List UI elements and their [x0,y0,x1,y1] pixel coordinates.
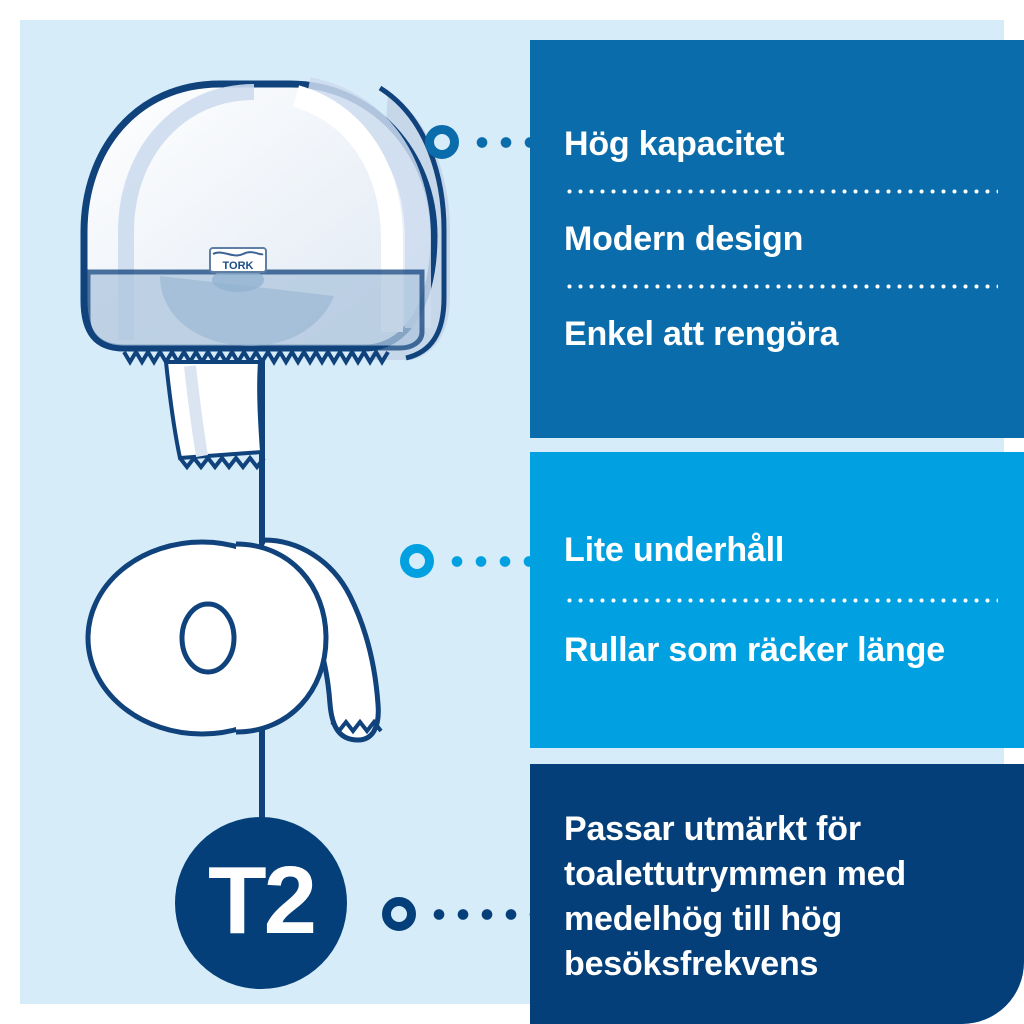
dotted-separator [564,284,998,289]
dispenser-group: TORK [84,84,450,467]
svg-text:TORK: TORK [223,260,254,272]
connector-ring-icon [400,544,434,578]
feature-panel-secondary: Lite underhåll Rullar som räcker länge [530,452,1024,748]
paper-sheet-torn-edge [180,458,264,467]
toilet-roll-group [88,540,381,740]
tork-logo-icon: TORK [210,248,266,272]
capacity-system-badge: T2 [175,817,347,989]
feature-panel-primary: Hög kapacitet Modern design Enkel att re… [530,40,1024,438]
connector-ring-icon [382,897,416,931]
badge-label: T2 [208,853,314,949]
dotted-separator [564,598,998,603]
roll-core-hole [182,604,234,672]
feature-text-modern-design: Modern design [564,220,990,258]
infographic-stage: TORK [0,0,1024,1024]
hanging-paper-sheet [166,362,262,458]
feature-text-enkel-att-rengora: Enkel att rengöra [564,315,990,353]
connector-ring-icon [425,125,459,159]
feature-text-rullar-som-racker-lange: Rullar som räcker länge [564,631,990,669]
infographic-canvas: TORK [20,20,1004,1004]
dotted-separator [564,189,998,194]
feature-text-hog-kapacitet: Hög kapacitet [564,125,990,163]
feature-text-lite-underhall: Lite underhåll [564,531,990,569]
feature-text-usage-description: Passar utmärkt för toalettutrymmen med m… [564,807,990,988]
feature-panel-usage: Passar utmärkt för toalettutrymmen med m… [530,764,1024,1024]
